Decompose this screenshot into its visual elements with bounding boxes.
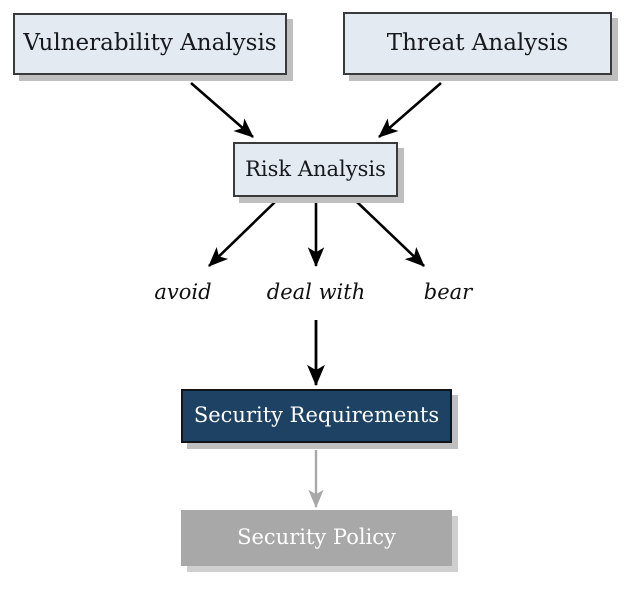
- edge-threat-to-risk: [379, 83, 441, 137]
- node-risk-analysis-label: Risk Analysis: [245, 158, 386, 181]
- node-risk-analysis[interactable]: Risk Analysis: [233, 142, 398, 197]
- edge-vulnerability-to-risk: [191, 83, 253, 137]
- node-vulnerability-analysis-label: Vulnerability Analysis: [23, 31, 276, 56]
- node-vulnerability-analysis[interactable]: Vulnerability Analysis: [13, 13, 287, 75]
- node-security-requirements-label: Security Requirements: [194, 404, 439, 427]
- node-threat-analysis[interactable]: Threat Analysis: [343, 12, 612, 75]
- node-security-policy[interactable]: Security Policy: [181, 510, 452, 566]
- node-threat-analysis-label: Threat Analysis: [387, 31, 568, 56]
- edge-label-bear: bear: [398, 280, 498, 304]
- edge-label-deal-with: deal with: [256, 280, 376, 304]
- node-security-requirements[interactable]: Security Requirements: [181, 389, 452, 443]
- edge-label-avoid: avoid: [133, 280, 233, 304]
- edge-risk-to-bear: [357, 202, 424, 266]
- diagram-canvas: Vulnerability Analysis Threat Analysis R…: [0, 0, 638, 595]
- edge-risk-to-avoid: [209, 202, 275, 266]
- node-security-policy-label: Security Policy: [237, 526, 396, 549]
